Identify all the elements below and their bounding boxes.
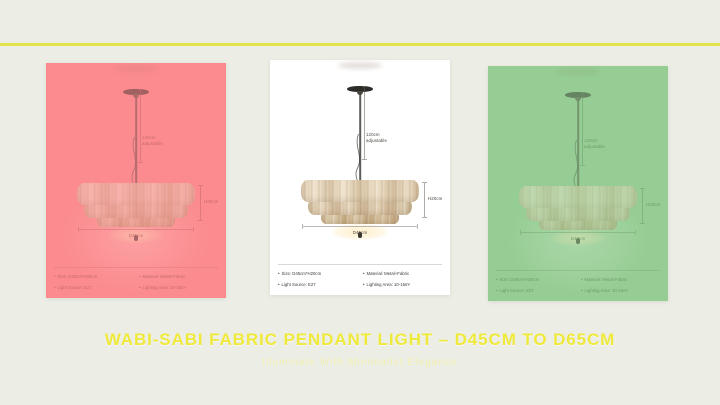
drop-dimension-label: 120cm adjustable <box>142 135 163 147</box>
height-measure-line <box>200 185 201 221</box>
headline: WABI-SABI FABRIC PENDANT LIGHT – D45CM T… <box>0 330 720 350</box>
spec-item: • Size: D45cm*H20cm <box>54 274 133 279</box>
diameter-dimension-label: D45cm <box>129 233 143 239</box>
diameter-dimension-label: D45cm <box>353 230 367 236</box>
spec-text: Light Source: E27 <box>282 282 316 287</box>
spec-list: • Size: D45cm*H20cm • Material: Metal+Fa… <box>496 270 660 293</box>
spec-list: • Size: D45cm*H20cm • Material: Metal+Fa… <box>54 267 218 290</box>
product-card-white[interactable]: 120cm adjustable H20cm D45cm • Size: D45… <box>270 60 450 295</box>
diameter-measure-line <box>78 229 194 230</box>
spec-text: Size: D45cm*H20cm <box>282 271 322 276</box>
suspension-rod <box>577 100 579 188</box>
product-card-green[interactable]: 120cm adjustable H20cm D45cm • Size: D45… <box>488 66 668 301</box>
spec-item: • Light Source: E27 <box>54 285 133 290</box>
diameter-dimension-label: D45cm <box>571 236 585 242</box>
bullet-icon: • <box>54 285 56 290</box>
spec-item: • Size: D45cm*H20cm <box>496 277 575 282</box>
spec-item: • Lighting Area: 10-15m² <box>581 288 660 293</box>
product-card-row: 120cm adjustable H20cm D45cm • Size: D45… <box>0 60 720 305</box>
bullet-icon: • <box>278 271 280 276</box>
bullet-icon: • <box>363 282 365 287</box>
spec-text: Material: Metal+Fabric <box>143 274 186 279</box>
bullet-icon: • <box>496 277 498 282</box>
fabric-shade <box>519 186 637 230</box>
spec-item: • Size: D45cm*H20cm <box>278 271 357 276</box>
product-card-pink[interactable]: 120cm adjustable H20cm D45cm • Size: D45… <box>46 63 226 298</box>
pleat-texture <box>301 180 419 202</box>
pleat-texture <box>77 183 195 205</box>
spec-text: Lighting Area: 10-15m² <box>143 285 186 290</box>
fabric-shade <box>77 183 195 227</box>
drop-dimension-label: 120cm adjustable <box>584 138 605 150</box>
suspension-rod <box>135 97 137 185</box>
drop-dimension-value: 120cm <box>584 138 598 143</box>
height-dimension-label: H20cm <box>428 196 442 202</box>
drop-measure-line <box>582 92 583 166</box>
drop-measure-line <box>364 86 365 160</box>
shade-tier-top <box>519 186 637 208</box>
shade-tier-top <box>77 183 195 205</box>
bullet-icon: • <box>581 277 583 282</box>
ceiling-shadow <box>338 62 382 69</box>
spec-text: Light Source: E27 <box>500 288 534 293</box>
shade-tier-top <box>301 180 419 202</box>
bullet-icon: • <box>54 274 56 279</box>
top-accent-rule <box>0 43 720 46</box>
height-measure-line <box>424 182 425 218</box>
bullet-icon: • <box>496 288 498 293</box>
spec-text: Size: D45cm*H20cm <box>58 274 98 279</box>
spec-text: Size: D45cm*H20cm <box>500 277 540 282</box>
spec-text: Material: Metal+Fabric <box>585 277 628 282</box>
drop-dimension-value: 120cm <box>142 135 156 140</box>
fabric-shade <box>301 180 419 224</box>
spec-text: Lighting Area: 10-15m² <box>585 288 628 293</box>
drop-dimension-note: adjustable <box>366 138 387 144</box>
spec-text: Material: Metal+Fabric <box>367 271 410 276</box>
drop-measure-line <box>140 89 141 163</box>
pleat-texture <box>519 186 637 208</box>
spec-item: • Lighting Area: 10-15m² <box>363 282 442 287</box>
spec-item: • Material: Metal+Fabric <box>363 271 442 276</box>
spec-item: • Material: Metal+Fabric <box>581 277 660 282</box>
drop-dimension-note: adjustable <box>142 141 163 147</box>
spec-item: • Light Source: E27 <box>278 282 357 287</box>
drop-dimension-label: 120cm adjustable <box>366 132 387 144</box>
ceiling-shadow <box>114 65 158 72</box>
spec-text: Lighting Area: 10-15m² <box>367 282 410 287</box>
drop-dimension-value: 120cm <box>366 132 380 137</box>
bullet-icon: • <box>139 285 141 290</box>
bullet-icon: • <box>278 282 280 287</box>
slide-canvas: 120cm adjustable H20cm D45cm • Size: D45… <box>0 0 720 405</box>
spec-list: • Size: D45cm*H20cm • Material: Metal+Fa… <box>278 264 442 287</box>
diameter-measure-line <box>302 226 418 227</box>
spec-text: Light Source: E27 <box>58 285 92 290</box>
height-dimension-label: H20cm <box>204 199 218 205</box>
height-measure-line <box>642 188 643 224</box>
bullet-icon: • <box>581 288 583 293</box>
spec-item: • Lighting Area: 10-15m² <box>139 285 218 290</box>
subheadline: Illuminate With Minimalist Elegance <box>0 357 720 368</box>
diameter-measure-line <box>520 232 636 233</box>
spec-item: • Material: Metal+Fabric <box>139 274 218 279</box>
drop-dimension-note: adjustable <box>584 144 605 150</box>
height-dimension-label: H20cm <box>646 202 660 208</box>
suspension-rod <box>359 94 361 182</box>
bullet-icon: • <box>139 274 141 279</box>
spec-item: • Light Source: E27 <box>496 288 575 293</box>
ceiling-shadow <box>556 68 600 75</box>
footer-text-block: WABI-SABI FABRIC PENDANT LIGHT – D45CM T… <box>0 330 720 368</box>
bullet-icon: • <box>363 271 365 276</box>
